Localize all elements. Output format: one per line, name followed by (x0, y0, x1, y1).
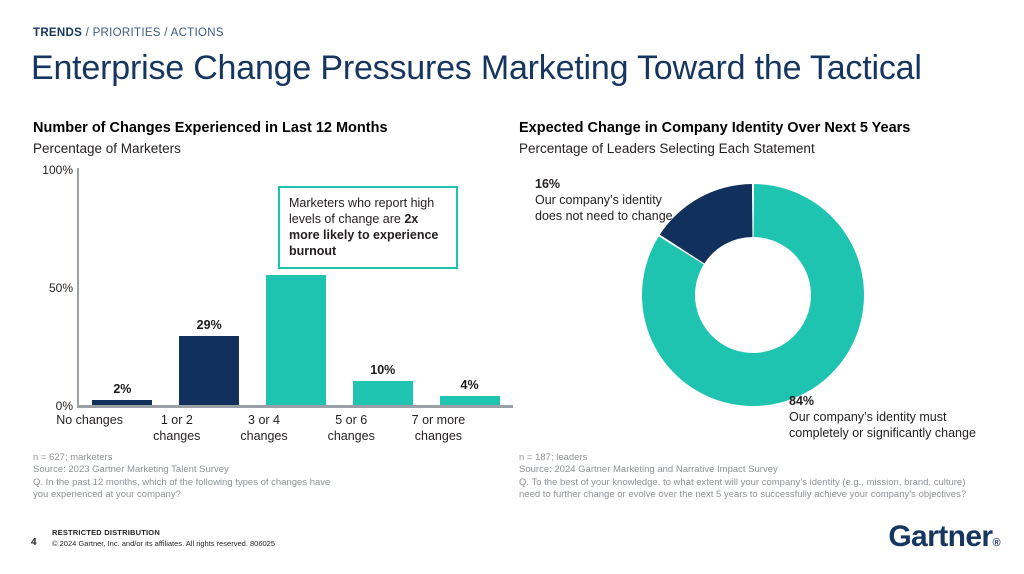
bar-value-label: 2% (113, 382, 131, 396)
right-footnote-question-2: need to further change or evolve over th… (519, 489, 999, 501)
bar[interactable]: 2% (92, 400, 152, 405)
left-footnote-n: n = 627; marketers (33, 452, 473, 464)
footer-restricted-label: RESTRICTED DISTRIBUTION (52, 527, 275, 538)
bar-value-label: 29% (197, 318, 222, 332)
footer-text: RESTRICTED DISTRIBUTION © 2024 Gartner, … (52, 527, 275, 549)
bar[interactable]: 29% (179, 336, 239, 405)
registered-trademark-icon: ® (992, 537, 1000, 549)
bar[interactable]: 4% (440, 396, 500, 405)
bar-slot: 2% (79, 168, 166, 405)
page-title: Enterprise Change Pressures Marketing To… (31, 48, 922, 88)
bar-slot: 29% (166, 168, 253, 405)
bar[interactable]: 10% (353, 381, 413, 405)
y-tick-100: 100% (42, 163, 73, 177)
donut-label-84-line2: completely or significantly change (789, 426, 976, 440)
x-axis-label: 7 or morechanges (395, 412, 482, 444)
donut-label-84-line1: Our company’s identity must (789, 410, 946, 424)
right-chart-subtitle: Percentage of Leaders Selecting Each Sta… (519, 140, 999, 158)
right-footnote-source: Source: 2024 Gartner Marketing and Narra… (519, 464, 999, 476)
slide: TRENDS / PRIORITIES / ACTIONS Enterprise… (0, 0, 1024, 574)
donut-label-16: 16% Our company’s identity does not need… (535, 176, 725, 224)
donut-label-16-value: 16% (535, 176, 725, 192)
left-footnote-source: Source: 2023 Gartner Marketing Talent Su… (33, 464, 473, 476)
breadcrumb-primary: TRENDS (33, 27, 82, 39)
x-axis-label: 3 or 4changes (220, 412, 307, 444)
x-axis-label: 1 or 2changes (133, 412, 220, 444)
right-chart-header: Expected Change in Company Identity Over… (519, 119, 999, 158)
left-chart-title: Number of Changes Experienced in Last 12… (33, 119, 503, 137)
gartner-logo-text: Gartner (888, 520, 992, 553)
right-footnote-n: n = 187; leaders (519, 452, 999, 464)
breadcrumb-secondary: / PRIORITIES / ACTIONS (82, 27, 224, 39)
right-footnote-question-1: Q. To the best of your knowledge, to wha… (519, 477, 999, 489)
donut-label-84: 84% Our company’s identity must complete… (789, 393, 1004, 441)
x-axis-line (77, 405, 513, 408)
footer-copyright: © 2024 Gartner, Inc. and/or its affiliat… (52, 538, 275, 549)
left-chart-header: Number of Changes Experienced in Last 12… (33, 119, 503, 158)
gartner-logo: Gartner® (888, 520, 1000, 560)
callout-box: Marketers who report high levels of chan… (278, 186, 458, 269)
donut-label-16-line1: Our company’s identity (535, 193, 662, 207)
y-tick-0: 0% (56, 399, 73, 413)
x-axis-label: 5 or 6changes (308, 412, 395, 444)
page-number: 4 (31, 537, 37, 548)
x-axis-labels: No changes1 or 2changes3 or 4changes5 or… (46, 412, 482, 444)
breadcrumb: TRENDS / PRIORITIES / ACTIONS (33, 27, 224, 39)
bar-value-label: 4% (461, 378, 479, 392)
left-chart-subtitle: Percentage of Marketers (33, 140, 503, 158)
y-tick-50: 50% (49, 281, 73, 295)
donut-label-16-line2: does not need to change (535, 209, 673, 223)
right-footnote: n = 187; leaders Source: 2024 Gartner Ma… (519, 452, 999, 502)
x-axis-label: No changes (46, 412, 133, 444)
left-footnote-question-2: you experienced at your company? (33, 489, 473, 501)
y-axis: 100% 50% 0% (33, 168, 73, 408)
donut-label-84-value: 84% (789, 393, 1004, 409)
bar-value-label: 10% (370, 363, 395, 377)
right-chart-title: Expected Change in Company Identity Over… (519, 119, 999, 137)
left-footnote: n = 627; marketers Source: 2023 Gartner … (33, 452, 473, 502)
bar[interactable]: 55% (266, 275, 326, 405)
left-footnote-question-1: Q. In the past 12 months, which of the f… (33, 477, 473, 489)
